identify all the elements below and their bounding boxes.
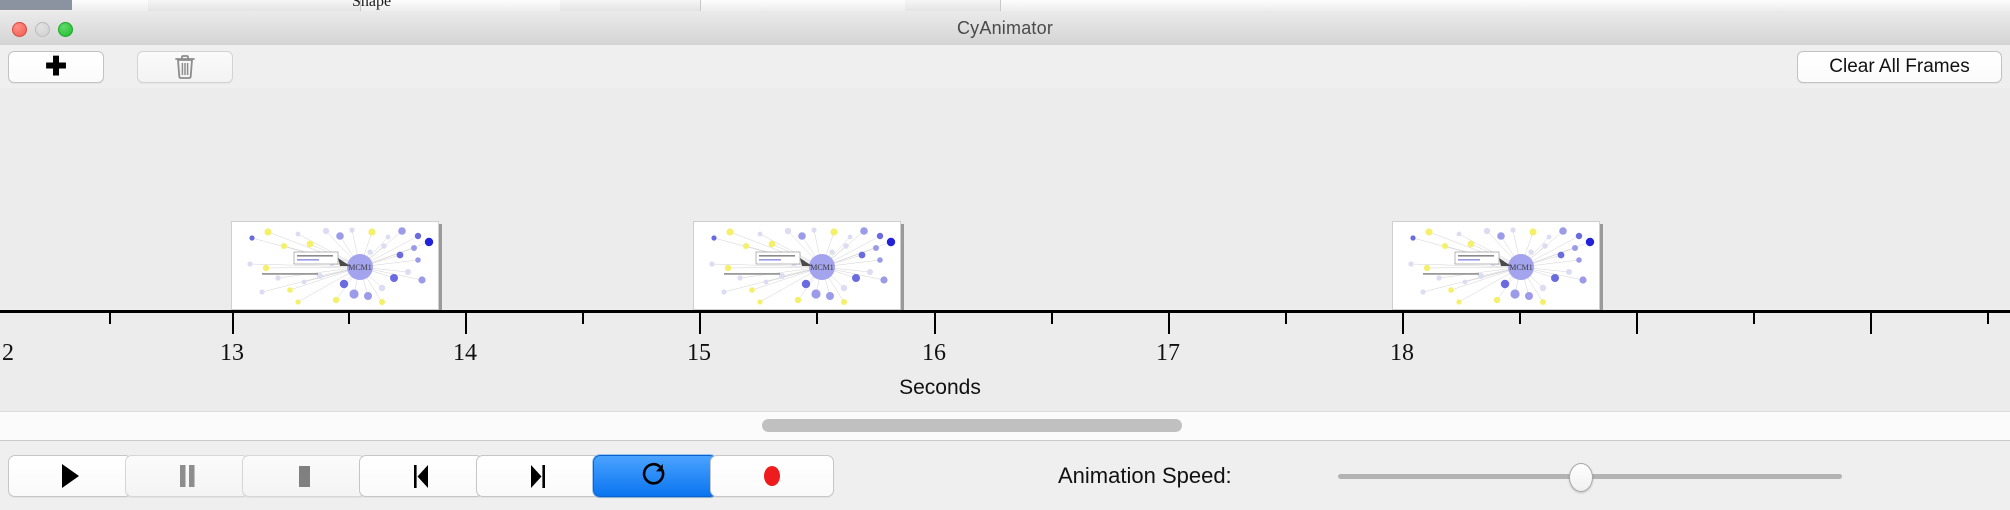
timeline-axis-line bbox=[0, 310, 2010, 313]
pause-button[interactable] bbox=[125, 455, 249, 497]
cyanimator-window: Shape CyAnimator ✚ Clear All Frames bbox=[0, 0, 2010, 510]
timeline-tick-major bbox=[1870, 313, 1872, 334]
timeline-tick-label: 15 bbox=[687, 340, 711, 367]
window-title: CyAnimator bbox=[0, 11, 2010, 45]
play-icon bbox=[57, 461, 83, 491]
loop-icon bbox=[641, 461, 669, 491]
svg-text:MCM1: MCM1 bbox=[1509, 263, 1533, 272]
timeline-tick-minor bbox=[348, 313, 350, 324]
delete-frame-button[interactable] bbox=[137, 51, 233, 83]
background-window-label: Shape bbox=[352, 0, 391, 11]
playback-control-bar: Animation Speed: bbox=[0, 440, 2010, 510]
timeline-tick-major bbox=[232, 313, 234, 334]
background-tab bbox=[235, 0, 301, 11]
timeline-tick-label: 18 bbox=[1390, 340, 1414, 367]
frame-toolbar: ✚ Clear All Frames bbox=[0, 45, 2010, 89]
timeline-tick-major bbox=[1636, 313, 1638, 334]
keyframe-track[interactable]: MCM1MCM1MCM1 bbox=[0, 88, 2010, 310]
axis-title-seconds: Seconds bbox=[0, 376, 1880, 400]
timeline-tick-minor bbox=[582, 313, 584, 324]
skip-forward-button[interactable] bbox=[476, 455, 600, 497]
keyframe-thumbnail[interactable]: MCM1 bbox=[1392, 221, 1600, 310]
play-button[interactable] bbox=[8, 455, 132, 497]
timeline-tick-major bbox=[699, 313, 701, 334]
timeline-panel[interactable]: MCM1MCM1MCM1 2131415161718 Seconds bbox=[0, 88, 2010, 411]
timeline-tick-minor bbox=[1051, 313, 1053, 324]
network-graph-thumbnail: MCM1 bbox=[1393, 222, 1599, 309]
timeline-tick-minor bbox=[816, 313, 818, 324]
animation-speed-slider-knob[interactable] bbox=[1569, 463, 1593, 492]
timeline-scrollbar[interactable] bbox=[0, 411, 2010, 441]
timeline-tick-label: 2 bbox=[2, 340, 14, 367]
network-graph-thumbnail: MCM1 bbox=[232, 222, 438, 309]
pause-icon bbox=[174, 461, 200, 491]
svg-text:MCM1: MCM1 bbox=[348, 263, 372, 272]
loop-button[interactable] bbox=[593, 455, 717, 497]
timeline-tick-major bbox=[1168, 313, 1170, 334]
timeline-tick-minor bbox=[1987, 313, 1989, 324]
timeline-tick-major bbox=[934, 313, 936, 334]
skip-back-button[interactable] bbox=[359, 455, 483, 497]
timeline-tick-major bbox=[465, 313, 467, 334]
record-button[interactable] bbox=[710, 455, 834, 497]
timeline-tick-minor bbox=[109, 313, 111, 324]
clear-all-frames-button[interactable]: Clear All Frames bbox=[1797, 51, 2002, 83]
timeline-tick-label: 14 bbox=[453, 340, 477, 367]
background-tab bbox=[955, 0, 1001, 11]
network-graph-thumbnail: MCM1 bbox=[694, 222, 900, 309]
skip-back-icon bbox=[407, 461, 435, 491]
timeline-tick-minor bbox=[1285, 313, 1287, 324]
background-window-titlebar bbox=[0, 0, 72, 10]
skip-forward-icon bbox=[524, 461, 552, 491]
timeline-tick-label: 17 bbox=[1156, 340, 1180, 367]
svg-text:MCM1: MCM1 bbox=[810, 263, 834, 272]
background-tab bbox=[905, 0, 956, 11]
keyframe-thumbnail[interactable]: MCM1 bbox=[231, 221, 439, 310]
background-tab bbox=[190, 0, 236, 11]
timeline-tick-minor bbox=[1753, 313, 1755, 324]
stop-icon bbox=[291, 461, 317, 491]
background-tab bbox=[148, 0, 191, 11]
keyframe-thumbnail[interactable]: MCM1 bbox=[693, 221, 901, 310]
record-icon bbox=[759, 461, 785, 491]
timeline-tick-major bbox=[1402, 313, 1404, 334]
background-tab bbox=[560, 0, 701, 11]
timeline-tick-minor bbox=[1519, 313, 1521, 324]
clear-all-frames-label: Clear All Frames bbox=[1829, 56, 1969, 78]
stop-button[interactable] bbox=[242, 455, 366, 497]
window-titlebar: CyAnimator bbox=[0, 11, 2010, 46]
animation-speed-label: Animation Speed: bbox=[1058, 441, 1232, 510]
trash-icon bbox=[174, 54, 196, 80]
timeline-scrollbar-thumb[interactable] bbox=[762, 419, 1182, 432]
add-frame-button[interactable]: ✚ bbox=[8, 51, 104, 83]
timeline-tick-label: 13 bbox=[220, 340, 244, 367]
timeline-tick-label: 16 bbox=[922, 340, 946, 367]
plus-icon: ✚ bbox=[45, 53, 67, 79]
animation-speed-slider[interactable] bbox=[1338, 474, 1842, 479]
